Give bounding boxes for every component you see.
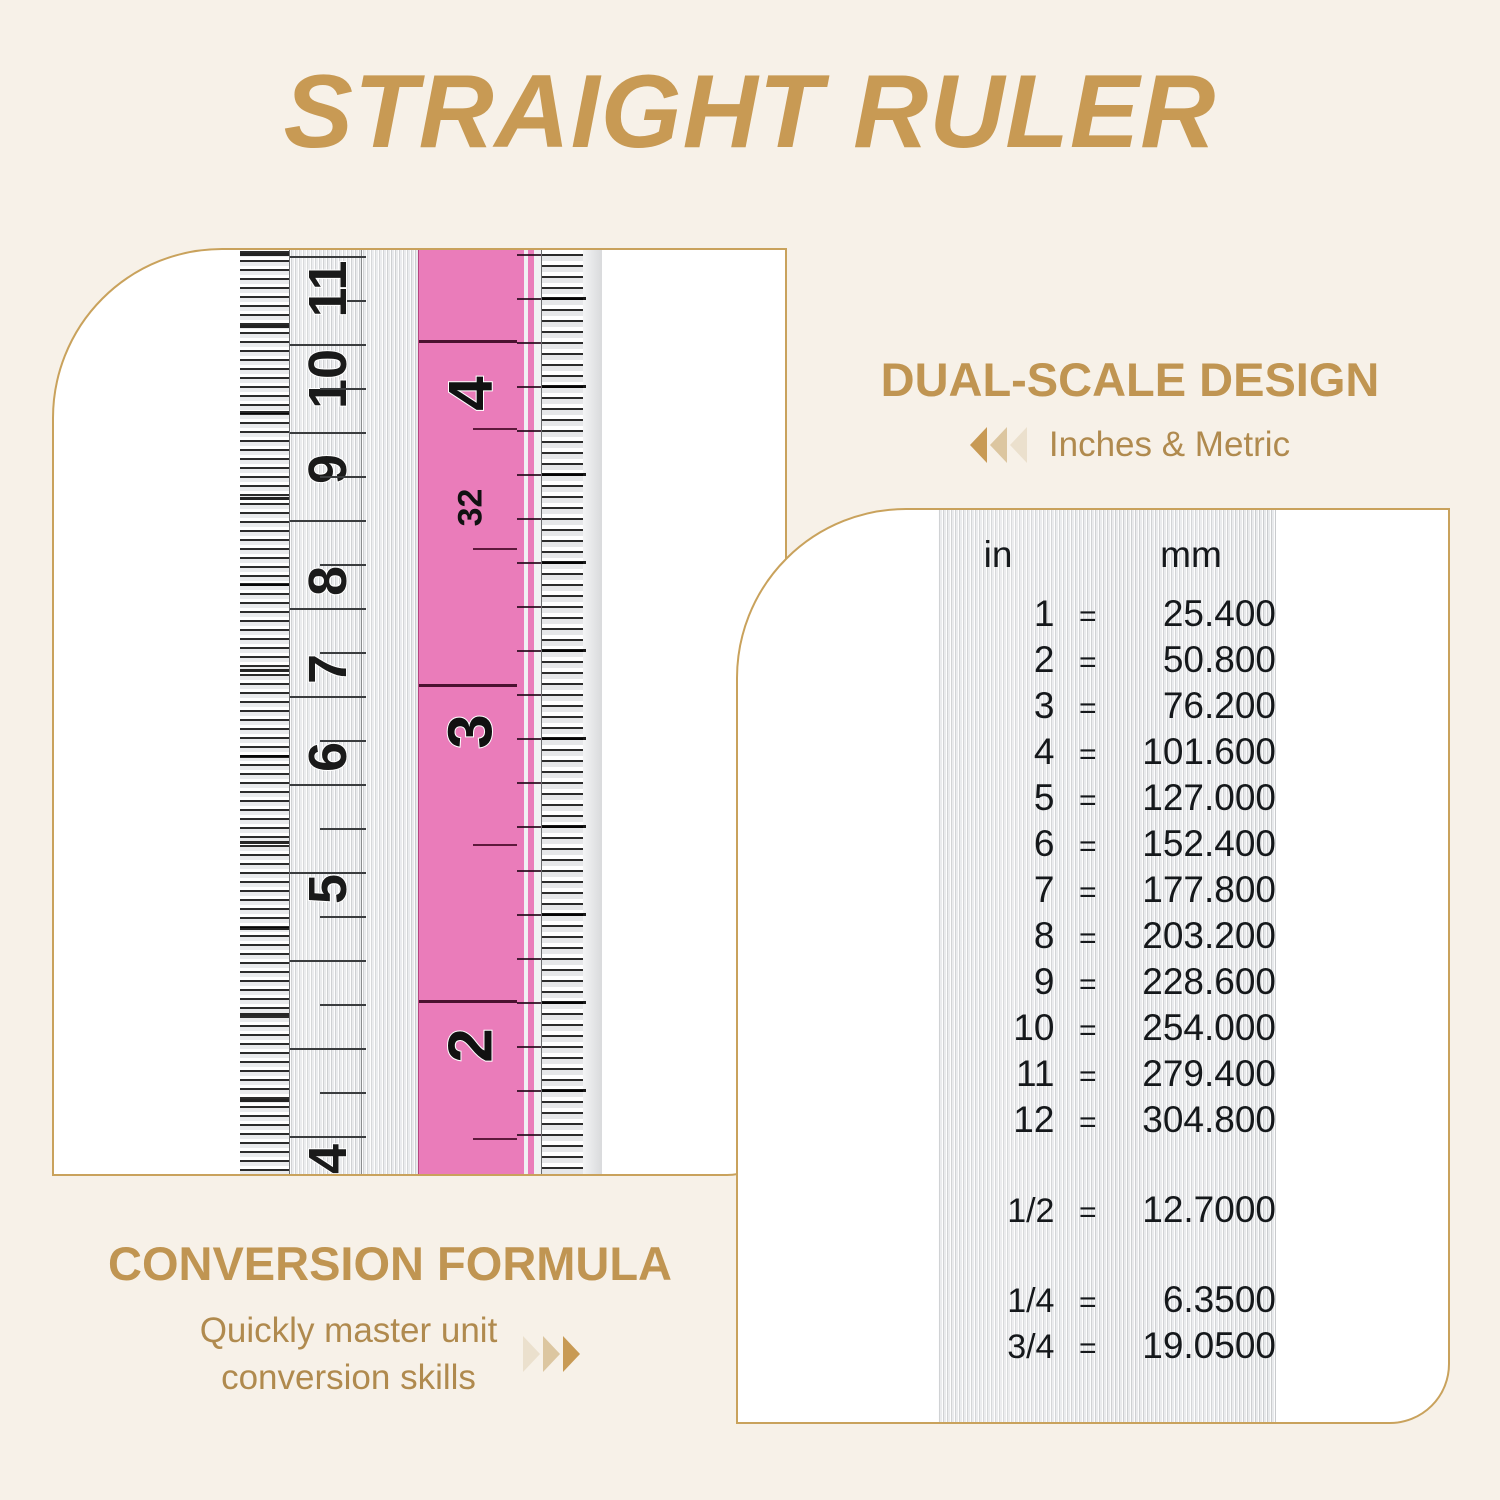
row-eq: =	[1064, 1198, 1111, 1228]
table-row: 11=279.400	[938, 1055, 1276, 1092]
row-mm: 25.400	[1111, 595, 1276, 632]
row-eq: =	[1064, 1334, 1111, 1364]
row-mm: 19.0500	[1111, 1327, 1276, 1364]
row-eq: =	[1064, 924, 1111, 954]
row-mm: 101.600	[1111, 733, 1276, 770]
row-mm: 279.400	[1111, 1055, 1276, 1092]
chevron-left-icon-1	[970, 427, 987, 463]
row-in: 4	[938, 733, 1064, 770]
row-eq: =	[1064, 648, 1111, 678]
conversion-subrow: Quickly master unit conversion skills	[40, 1307, 740, 1402]
table-gap	[938, 1147, 1276, 1191]
row-mm: 12.7000	[1111, 1191, 1276, 1228]
header-millimeters: mm	[1106, 536, 1276, 573]
conversion-heading: CONVERSION FORMULA	[40, 1236, 740, 1291]
row-in: 5	[938, 779, 1064, 816]
row-eq: =	[1064, 786, 1111, 816]
row-in: 1	[938, 595, 1064, 632]
row-in: 2	[938, 641, 1064, 678]
header-inches: in	[938, 536, 1058, 573]
row-in: 11	[938, 1055, 1064, 1092]
table-row: 12=304.800	[938, 1101, 1276, 1138]
row-eq: =	[1064, 1108, 1111, 1138]
table-row: 8=203.200	[938, 917, 1276, 954]
table-row: 10=254.000	[938, 1009, 1276, 1046]
conversion-subtext-line1: Quickly master unit	[200, 1311, 498, 1350]
row-eq: =	[1064, 1016, 1111, 1046]
table-row: 3=76.200	[938, 687, 1276, 724]
inch-scale-band: 4 32 3 2	[418, 248, 516, 1176]
infographic-stage: STRAIGHT RULER 11 10 9 8 7	[0, 0, 1500, 1500]
conversion-table-panel: in mm 1=25.400 2=50.800 3=76.200 4=101.6…	[736, 508, 1450, 1424]
row-in: 7	[938, 871, 1064, 908]
row-eq: =	[1064, 1062, 1111, 1092]
metric-label-11: 11	[297, 251, 359, 327]
table-row: 5=127.000	[938, 779, 1276, 816]
inch-rail-column	[517, 248, 541, 1176]
metric-label-10: 10	[297, 341, 359, 417]
chevron-left-group	[970, 427, 1027, 463]
chevron-right-group	[523, 1336, 580, 1372]
row-mm: 3.1750	[1111, 1417, 1276, 1424]
conversion-feature: CONVERSION FORMULA Quickly master unit c…	[40, 1236, 740, 1402]
row-in: 3/4	[938, 1330, 1064, 1364]
conversion-table: in mm 1=25.400 2=50.800 3=76.200 4=101.6…	[938, 536, 1276, 1424]
row-eq: =	[1064, 694, 1111, 724]
table-row: 3/4=19.0500	[938, 1327, 1276, 1364]
table-gap	[938, 1237, 1276, 1281]
row-in: 12	[938, 1101, 1064, 1138]
row-mm: 304.800	[1111, 1101, 1276, 1138]
row-mm: 228.600	[1111, 963, 1276, 1000]
table-row: 6=152.400	[938, 825, 1276, 862]
inch-fine-tick-column	[541, 248, 583, 1176]
metric-tick-column	[240, 248, 290, 1176]
metal-strip: in mm 1=25.400 2=50.800 3=76.200 4=101.6…	[938, 508, 1276, 1424]
dual-scale-subtext: Inches & Metric	[1049, 425, 1290, 465]
table-row: 1=25.400	[938, 595, 1276, 632]
metric-label-9: 9	[297, 431, 359, 507]
metric-number-column: 11 10 9 8 7 6 5	[290, 248, 362, 1176]
conversion-subtext-line2: conversion skills	[221, 1358, 476, 1397]
row-in: 1/8	[938, 1420, 1064, 1424]
table-row: 1/2=12.7000	[938, 1191, 1276, 1228]
row-in: 8	[938, 917, 1064, 954]
chevron-right-icon-2	[543, 1336, 560, 1372]
row-eq: =	[1064, 740, 1111, 770]
chevron-left-icon-2	[990, 427, 1007, 463]
row-mm: 254.000	[1111, 1009, 1276, 1046]
row-in: 6	[938, 825, 1064, 862]
table-row: 2=50.800	[938, 641, 1276, 678]
dual-scale-subrow: Inches & Metric	[800, 425, 1460, 465]
ruler-edge	[583, 248, 602, 1176]
row-in: 1/4	[938, 1284, 1064, 1318]
row-mm: 127.000	[1111, 779, 1276, 816]
row-in: 9	[938, 963, 1064, 1000]
inch-sub-label-32: 32	[452, 456, 491, 560]
dual-scale-feature: DUAL-SCALE DESIGN Inches & Metric	[800, 352, 1460, 465]
row-mm: 152.400	[1111, 825, 1276, 862]
chevron-right-icon-1	[523, 1336, 540, 1372]
page-title: STRAIGHT RULER	[0, 58, 1500, 167]
ruler-image: 11 10 9 8 7 6 5	[240, 248, 602, 1176]
conversion-subtext: Quickly master unit conversion skills	[200, 1307, 498, 1402]
table-row: 1/4=6.3500	[938, 1281, 1276, 1318]
table-row: 4=101.600	[938, 733, 1276, 770]
row-eq: =	[1064, 1288, 1111, 1318]
chevron-right-icon-3	[563, 1336, 580, 1372]
ruler-center-gutter	[362, 248, 418, 1176]
metric-label-4: 4	[297, 1121, 359, 1176]
inch-label-3: 3	[436, 680, 507, 784]
row-in: 1/2	[938, 1194, 1064, 1228]
table-header-row: in mm	[938, 536, 1276, 573]
row-in: 3	[938, 687, 1064, 724]
row-mm: 6.3500	[1111, 1281, 1276, 1318]
row-eq: =	[1064, 602, 1111, 632]
row-in: 10	[938, 1009, 1064, 1046]
row-eq: =	[1064, 878, 1111, 908]
inch-label-2: 2	[436, 994, 507, 1098]
row-mm: 177.800	[1111, 871, 1276, 908]
dual-scale-heading: DUAL-SCALE DESIGN	[800, 352, 1460, 407]
row-mm: 203.200	[1111, 917, 1276, 954]
row-mm: 50.800	[1111, 641, 1276, 678]
row-eq: =	[1064, 832, 1111, 862]
ruler-photo-panel: 11 10 9 8 7 6 5	[52, 248, 787, 1176]
table-row: 7=177.800	[938, 871, 1276, 908]
table-row: 1/8=3.1750	[938, 1417, 1276, 1424]
row-eq: =	[1064, 970, 1111, 1000]
chevron-left-icon-3	[1010, 427, 1027, 463]
row-mm: 76.200	[1111, 687, 1276, 724]
table-row: 9=228.600	[938, 963, 1276, 1000]
table-gap	[938, 1373, 1276, 1417]
